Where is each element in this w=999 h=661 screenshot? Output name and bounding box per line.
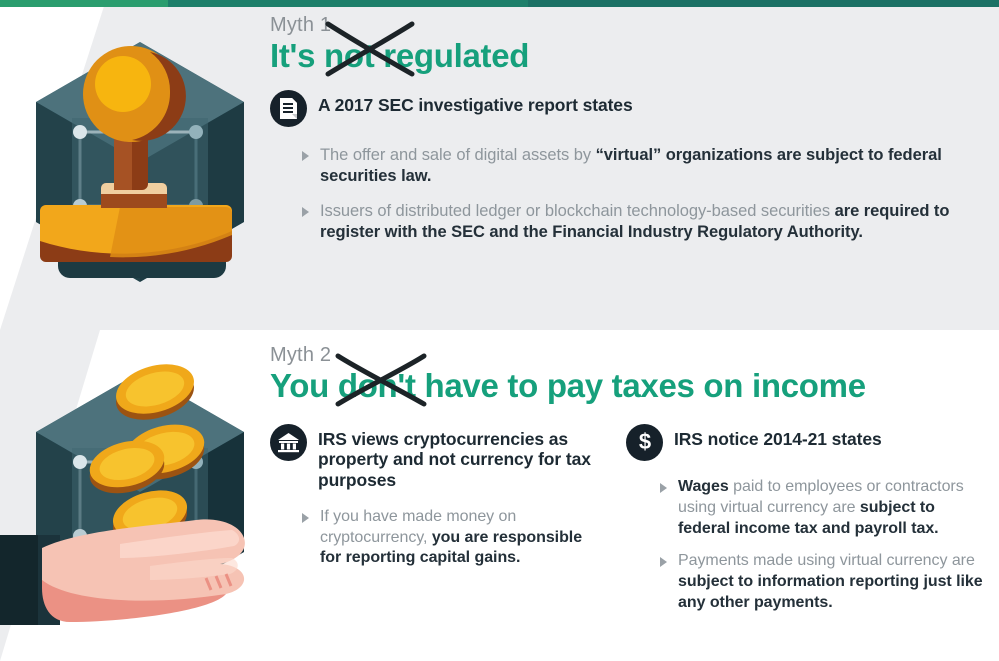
myth-2-block-2-heading: IRS notice 2014-21 states (674, 424, 882, 450)
myth-2-heading: You don't have to pay taxes on income (270, 368, 995, 404)
list-item: Issuers of distributed ledger or blockch… (302, 201, 970, 244)
myth-1-block-header: A 2017 SEC investigative report states (270, 90, 970, 127)
bullet-arrow-icon (302, 207, 309, 217)
myth-2-block-2-header: $ IRS notice 2014-21 states (626, 424, 991, 461)
myth-2-block-1-heading: IRS views cryptocurrencies as property a… (318, 424, 600, 491)
myth-1-heading: It's not regulated (270, 38, 970, 74)
accent-segment-left (0, 0, 170, 7)
myth-2-block-1-header: IRS views cryptocurrencies as property a… (270, 424, 600, 491)
top-accent-bar (0, 0, 999, 7)
list-item: Wages paid to employees or contractors u… (660, 477, 991, 540)
myth-1-block-heading: A 2017 SEC investigative report states (318, 90, 633, 116)
myth-2-left-column: IRS views cryptocurrencies as property a… (270, 424, 600, 627)
bullet-arrow-icon (660, 557, 667, 567)
myth-2-heading-text: You don't have to pay taxes on income (270, 367, 866, 404)
myth-2-columns: IRS views cryptocurrencies as property a… (270, 424, 995, 627)
list-item: Payments made using virtual currency are… (660, 551, 991, 614)
myth-2-label: Myth 2 (270, 344, 995, 367)
accent-segment-right (528, 0, 999, 7)
bullet-text: Wages paid to employees or contractors u… (678, 478, 964, 537)
stamp-hexagon-graphic (0, 0, 268, 330)
myth-1-content: Myth 1 It's not regulated (270, 14, 970, 244)
document-icon-glyph (278, 97, 299, 120)
myth-1-heading-text: It's not regulated (270, 37, 529, 74)
bullet-arrow-icon (660, 483, 667, 493)
myth-2-section: Myth 2 You don't have to pay taxes on in… (0, 330, 999, 661)
list-item: The offer and sale of digital assets by … (302, 145, 970, 188)
myth-2-block-1-bullet-list: If you have made money on cryptocurrency… (302, 507, 600, 570)
dollar-icon-glyph: $ (635, 430, 655, 454)
bullet-arrow-icon (302, 513, 309, 523)
stamp-illustration (0, 0, 268, 330)
myth-2-right-column: $ IRS notice 2014-21 states Wages paid t… (626, 424, 991, 627)
bank-icon (270, 424, 307, 461)
bullet-text: Payments made using virtual currency are… (678, 552, 983, 611)
list-item: If you have made money on cryptocurrency… (302, 507, 600, 570)
infographic-page: Myth 1 It's not regulated (0, 0, 999, 661)
hand-coins-illustration (0, 330, 268, 661)
bullet-text: Issuers of distributed ledger or blockch… (320, 202, 949, 242)
dollar-icon: $ (626, 424, 663, 461)
bullet-text: The offer and sale of digital assets by … (320, 146, 942, 186)
bullet-arrow-icon (302, 151, 309, 161)
myth-1-section: Myth 1 It's not regulated (0, 0, 999, 330)
bank-icon-glyph (277, 432, 300, 453)
myth-1-bullet-list: The offer and sale of digital assets by … (302, 145, 970, 244)
myth-1-label: Myth 1 (270, 14, 970, 37)
myth-2-content: Myth 2 You don't have to pay taxes on in… (270, 344, 995, 626)
bullet-text: If you have made money on cryptocurrency… (320, 508, 582, 567)
accent-segment-middle (168, 0, 530, 7)
svg-text:$: $ (638, 430, 650, 454)
document-icon (270, 90, 307, 127)
hand-coins-hexagon-graphic (0, 330, 268, 661)
myth-2-block-2-bullet-list: Wages paid to employees or contractors u… (660, 477, 991, 615)
